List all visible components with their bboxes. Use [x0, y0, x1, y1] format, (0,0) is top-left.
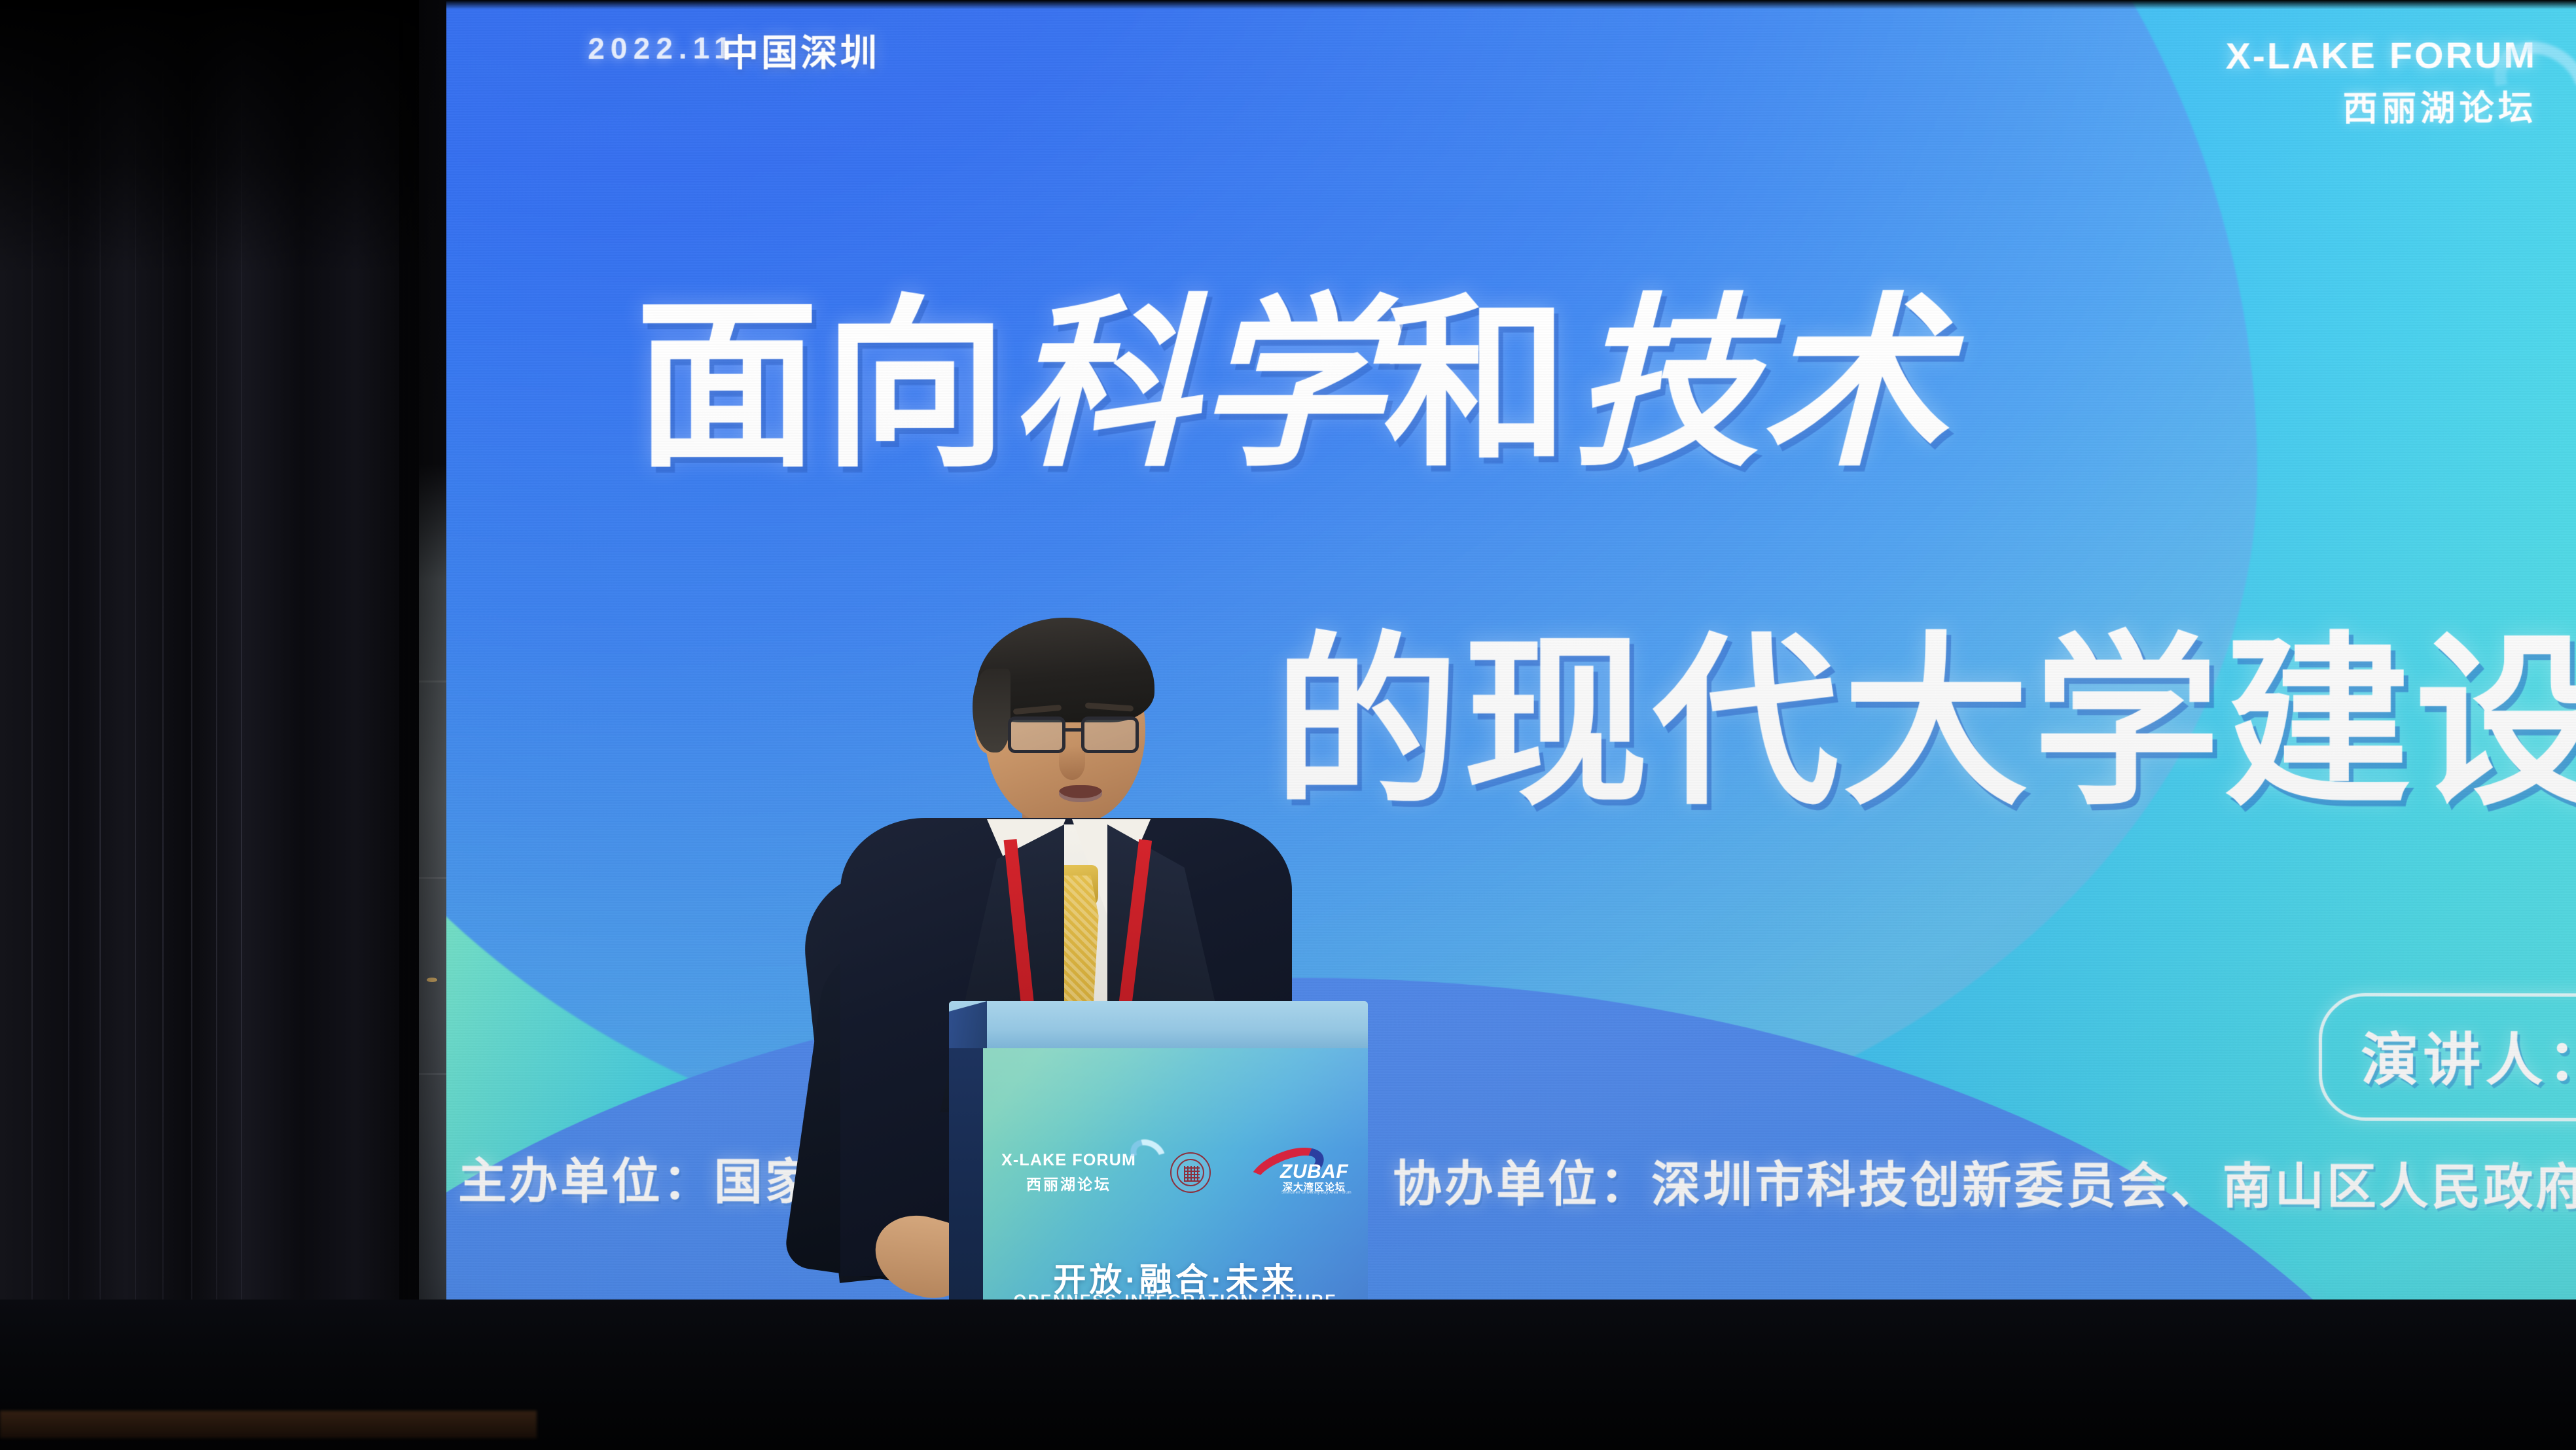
- cohost-organization-label: 协办单位：深圳市科技创新委员会、南山区人民政府: [1393, 1144, 2576, 1218]
- stage-photo: 2022.11 中国深圳 X-LAKE FORUM 西丽湖论坛 面向科学和技术 …: [0, 0, 2576, 1450]
- brand-name-en: X-LAKE FORUM: [2226, 33, 2537, 77]
- headline-line-2: 的现代大学建设: [1274, 631, 2576, 816]
- podium-top-surface: [949, 1001, 1368, 1048]
- headline-seg-1: 面向: [635, 283, 1011, 489]
- zubaf-logo: ZUBAF 深大湾区论坛 Shenzhen University Bay Are…: [1245, 1149, 1350, 1196]
- headline-seg-2: 科学: [1011, 276, 1384, 493]
- projection-screen: 2022.11 中国深圳 X-LAKE FORUM 西丽湖论坛 面向科学和技术 …: [399, 0, 2576, 1325]
- screen-top-shadow: [399, 0, 2576, 9]
- speaker-name-badge: 演讲人：樊 建 平: [2319, 993, 2576, 1122]
- xlake-forum-logo: X-LAKE FORUM 西丽湖论坛: [1001, 1151, 1136, 1194]
- podium-logo-row: X-LAKE FORUM 西丽湖论坛 ZUBAF 深大湾区论坛 Shenzhen…: [983, 1149, 1368, 1196]
- brand-name-cn: 西丽湖论坛: [2226, 80, 2537, 130]
- headline-line-1: 面向科学和技术: [635, 291, 1948, 478]
- slide-city: 中国深圳: [722, 23, 880, 77]
- floor-wood-strip: [0, 1411, 537, 1438]
- podium-top-edge: [949, 1001, 987, 1048]
- shenzhen-university-seal-icon: [1170, 1152, 1211, 1193]
- xlake-logo-en: X-LAKE FORUM: [1001, 1151, 1136, 1170]
- headline-seg-4: 技术: [1573, 275, 1948, 492]
- speaker-mouth: [1059, 785, 1102, 802]
- curtain-top-shadow: [0, 0, 419, 275]
- headline-seg-3: 和: [1384, 282, 1573, 487]
- zubaf-logo-sub: Shenzhen University Bay Area Forum: [1281, 1191, 1351, 1195]
- slide-date: 2022.11: [588, 30, 736, 66]
- wall-knob-icon: [427, 978, 437, 982]
- speaker-nose: [1059, 746, 1085, 780]
- xlake-logo-cn: 西丽湖论坛: [1001, 1172, 1136, 1194]
- xlake-brand-mark: X-LAKE FORUM 西丽湖论坛: [2226, 33, 2537, 131]
